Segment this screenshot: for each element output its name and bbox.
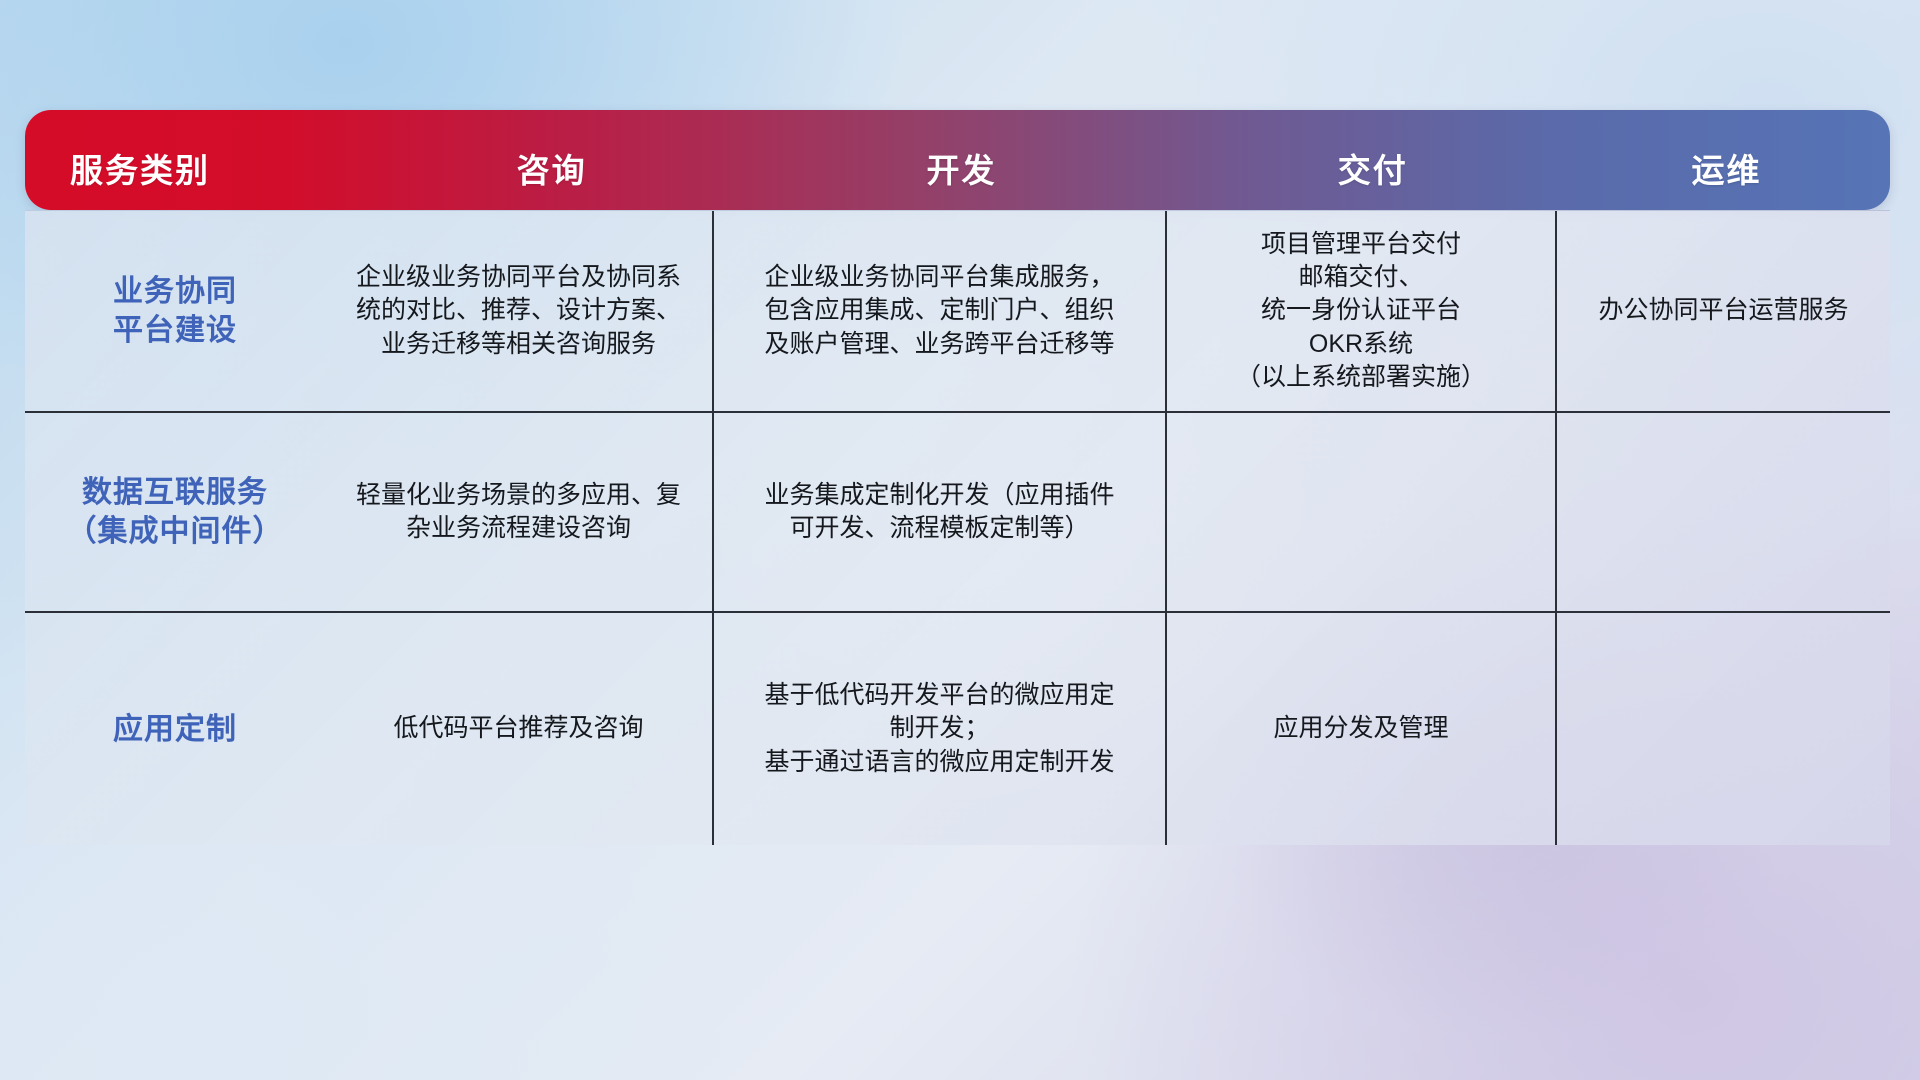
cell-operations [1555,413,1890,611]
column-header-development: 开发 [740,110,1182,210]
cell-development: 业务集成定制化开发（应用插件 可开发、流程模板定制等） [712,413,1165,611]
table-header-row: 服务类别 咨询 开发 交付 运维 [25,110,1890,210]
cell-development: 企业级业务协同平台集成服务， 包含应用集成、定制门户、组织 及账户管理、业务跨平… [712,211,1165,411]
cell-operations: 办公协同平台运营服务 [1555,211,1890,411]
column-header-category: 服务类别 [25,110,363,210]
table-row: 数据互联服务 （集成中间件） 轻量化业务场景的多应用、复 杂业务流程建设咨询 业… [25,411,1890,611]
row-label-app-customization: 应用定制 [25,613,325,845]
column-header-delivery: 交付 [1182,110,1563,210]
column-header-operations: 运维 [1563,110,1890,210]
table-body: 业务协同 平台建设 企业级业务协同平台及协同系 统的对比、推荐、设计方案、 业务… [25,210,1890,845]
service-matrix-table: 服务类别 咨询 开发 交付 运维 业务协同 平台建设 企业级业务协同平台及协同系… [25,110,1890,845]
cell-consulting: 轻量化业务场景的多应用、复 杂业务流程建设咨询 [325,413,712,611]
column-header-consulting: 咨询 [363,110,741,210]
cell-consulting: 企业级业务协同平台及协同系 统的对比、推荐、设计方案、 业务迁移等相关咨询服务 [325,211,712,411]
row-label-data-integration: 数据互联服务 （集成中间件） [25,413,325,611]
cell-delivery: 项目管理平台交付 邮箱交付、 统一身份认证平台 OKR系统 （以上系统部署实施） [1165,211,1555,411]
cell-consulting: 低代码平台推荐及咨询 [325,613,712,845]
cell-development: 基于低代码开发平台的微应用定 制开发； 基于通过语言的微应用定制开发 [712,613,1165,845]
row-label-business-collaboration: 业务协同 平台建设 [25,211,325,411]
cell-operations [1555,613,1890,845]
table-row: 业务协同 平台建设 企业级业务协同平台及协同系 统的对比、推荐、设计方案、 业务… [25,211,1890,411]
cell-delivery: 应用分发及管理 [1165,613,1555,845]
table-row: 应用定制 低代码平台推荐及咨询 基于低代码开发平台的微应用定 制开发； 基于通过… [25,611,1890,845]
cell-delivery [1165,413,1555,611]
